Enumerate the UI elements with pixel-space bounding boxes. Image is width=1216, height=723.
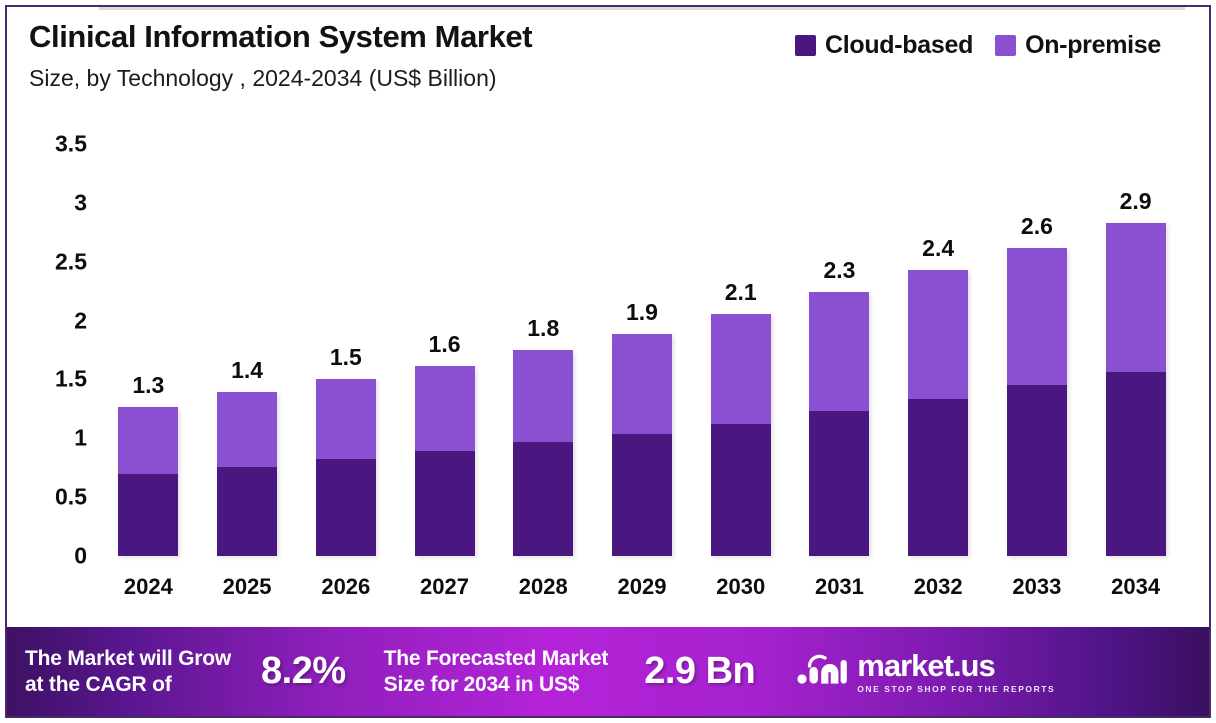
bar-segment-on-premise[interactable] [316, 379, 376, 459]
bar-value-label: 2.4 [908, 235, 968, 262]
stacked-bar[interactable]: 1.4 [217, 392, 277, 556]
x-axis-tick-label: 2031 [790, 574, 889, 600]
bar-segment-on-premise[interactable] [908, 270, 968, 399]
y-axis-tick: 1.5 [25, 366, 87, 393]
y-axis-tick: 0.5 [25, 484, 87, 511]
bar-segment-cloud-based[interactable] [1007, 385, 1067, 556]
bar-slot: 1.9 [612, 334, 672, 556]
stacked-bar[interactable]: 1.6 [415, 366, 475, 556]
x-axis-tick-label: 2030 [691, 574, 790, 600]
x-axis-tick-label: 2032 [889, 574, 988, 600]
bar-slot: 2.6 [1007, 248, 1067, 556]
x-axis-tick-label: 2026 [296, 574, 395, 600]
bar-value-label: 1.6 [415, 331, 475, 358]
stacked-bar[interactable]: 1.9 [612, 334, 672, 556]
bar-segment-cloud-based[interactable] [1106, 372, 1166, 556]
forecast-value: 2.9 Bn [644, 650, 755, 693]
stacked-bar[interactable]: 2.3 [809, 292, 869, 556]
x-axis-tick-label: 2028 [494, 574, 593, 600]
bar-slot: 2.9 [1106, 223, 1166, 556]
cagr-value: 8.2% [261, 650, 346, 693]
bar-value-label: 1.9 [612, 299, 672, 326]
bar-segment-cloud-based[interactable] [217, 467, 277, 556]
bar-slot: 1.6 [415, 366, 475, 556]
bar-segment-on-premise[interactable] [415, 366, 475, 451]
bar-segment-cloud-based[interactable] [711, 424, 771, 556]
bar-value-label: 2.3 [809, 257, 869, 284]
bar-value-label: 2.6 [1007, 213, 1067, 240]
bar-segment-on-premise[interactable] [1106, 223, 1166, 372]
market-us-logo-icon [797, 648, 847, 695]
bar-segment-cloud-based[interactable] [415, 451, 475, 556]
summary-banner: The Market will Grow at the CAGR of 8.2%… [7, 627, 1209, 716]
bar-value-label: 2.1 [711, 279, 771, 306]
x-axis-tick-label: 2034 [1086, 574, 1185, 600]
logo-name: market.us [857, 650, 1055, 681]
stacked-bar[interactable]: 2.9 [1106, 223, 1166, 556]
bar-value-label: 1.3 [118, 372, 178, 399]
bar-slot: 2.3 [809, 292, 869, 556]
bar-segment-on-premise[interactable] [118, 407, 178, 474]
stacked-bar[interactable]: 2.4 [908, 270, 968, 556]
y-axis-tick: 2 [25, 307, 87, 334]
bar-segment-cloud-based[interactable] [612, 434, 672, 556]
bar-segment-on-premise[interactable] [809, 292, 869, 411]
plot-area: 00.511.522.533.5 1.31.41.51.61.81.92.12.… [7, 7, 1211, 619]
bar-value-label: 1.5 [316, 344, 376, 371]
bar-segment-on-premise[interactable] [612, 334, 672, 434]
stacked-bar[interactable]: 1.5 [316, 379, 376, 556]
y-axis-tick: 0 [25, 543, 87, 570]
bar-segment-on-premise[interactable] [1007, 248, 1067, 386]
bar-value-label: 2.9 [1106, 188, 1166, 215]
y-axis-tick: 3 [25, 189, 87, 216]
x-axis-tick-label: 2029 [593, 574, 692, 600]
bar-slot: 1.3 [118, 407, 178, 556]
x-axis-tick-label: 2027 [395, 574, 494, 600]
bar-segment-cloud-based[interactable] [118, 474, 178, 556]
stacked-bar[interactable]: 1.8 [513, 350, 573, 556]
bar-value-label: 1.8 [513, 315, 573, 342]
cagr-label: The Market will Grow at the CAGR of [25, 646, 231, 697]
bar-segment-cloud-based[interactable] [809, 411, 869, 556]
bar-slot: 2.4 [908, 270, 968, 556]
bar-segment-on-premise[interactable] [711, 314, 771, 425]
logo-text-block: market.us ONE STOP SHOP FOR THE REPORTS [857, 650, 1055, 694]
forecast-label: The Forecasted Market Size for 2034 in U… [384, 646, 609, 697]
stacked-bar[interactable]: 2.1 [711, 314, 771, 556]
bar-slot: 1.5 [316, 379, 376, 556]
bar-slot: 1.8 [513, 350, 573, 556]
bar-slot: 1.4 [217, 392, 277, 556]
bar-value-label: 1.4 [217, 357, 277, 384]
x-axis-tick-label: 2025 [198, 574, 297, 600]
bar-group: 1.31.41.51.61.81.92.12.32.42.62.9 [99, 7, 1185, 619]
logo-tagline: ONE STOP SHOP FOR THE REPORTS [857, 684, 1055, 694]
y-axis-tick: 2.5 [25, 248, 87, 275]
y-axis-tick: 3.5 [25, 131, 87, 158]
x-axis-tick-label: 2024 [99, 574, 198, 600]
bar-segment-on-premise[interactable] [217, 392, 277, 466]
brand-logo[interactable]: market.us ONE STOP SHOP FOR THE REPORTS [797, 648, 1055, 695]
bar-segment-on-premise[interactable] [513, 350, 573, 442]
chart-infographic: Clinical Information System Market Size,… [0, 0, 1216, 723]
bar-slot: 2.1 [711, 314, 771, 556]
x-axis-tick-label: 2033 [988, 574, 1087, 600]
bar-segment-cloud-based[interactable] [908, 399, 968, 556]
chart-card: Clinical Information System Market Size,… [5, 5, 1211, 718]
bar-segment-cloud-based[interactable] [513, 442, 573, 556]
y-axis-tick: 1 [25, 425, 87, 452]
bar-segment-cloud-based[interactable] [316, 459, 376, 556]
stacked-bar[interactable]: 2.6 [1007, 248, 1067, 556]
stacked-bar[interactable]: 1.3 [118, 407, 178, 556]
